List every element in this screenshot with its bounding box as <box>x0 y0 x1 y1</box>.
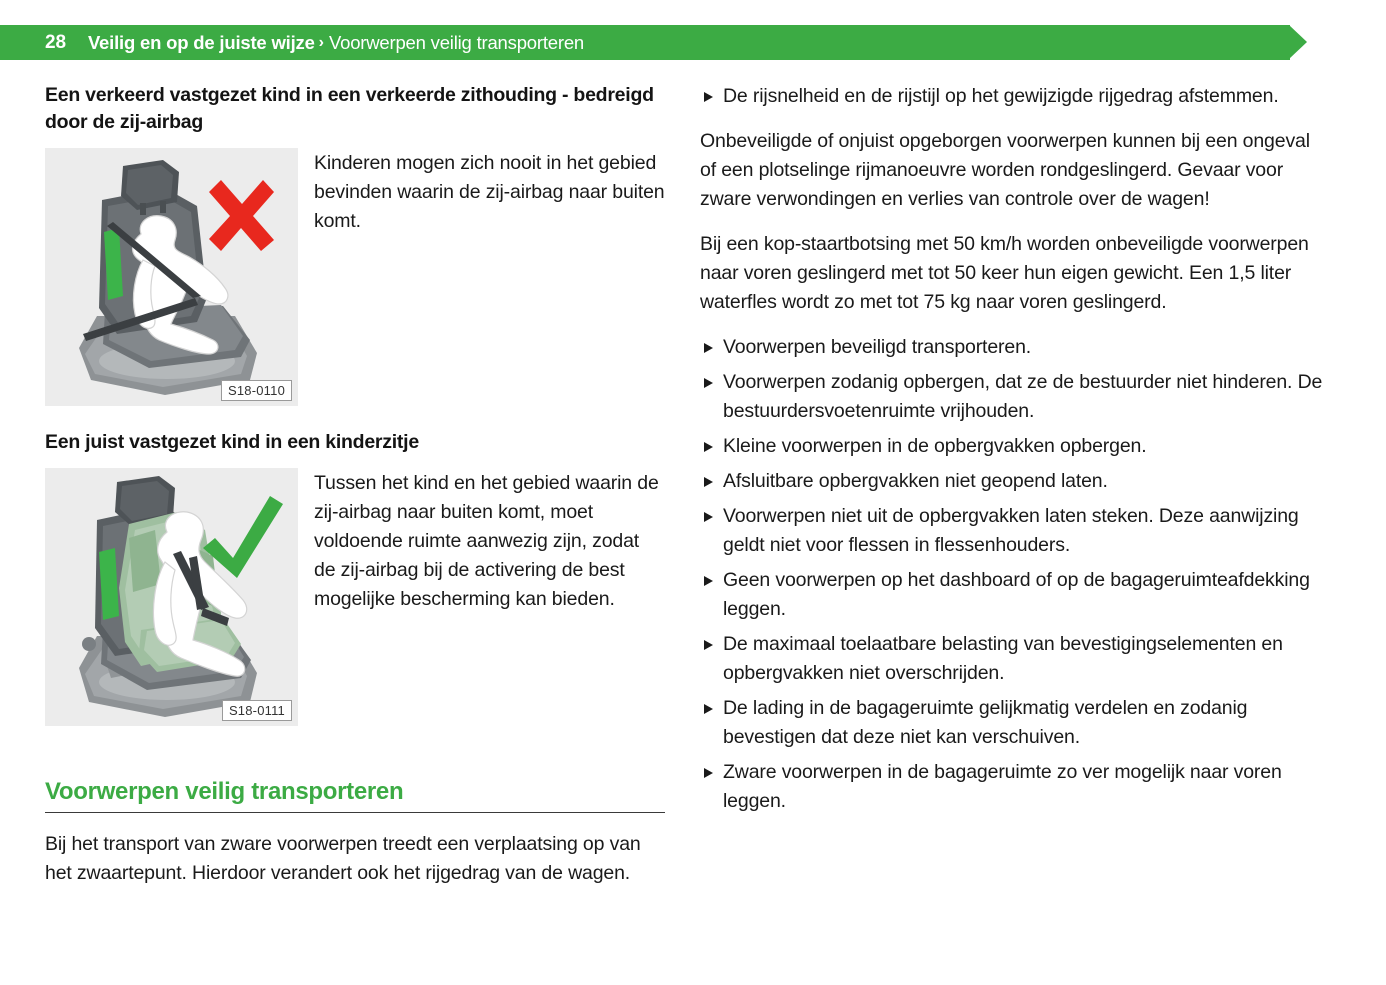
figure-wrong-seating: S18-0110 <box>45 148 298 406</box>
page-running-header: 28 Veilig en op de juiste wijze › Voorwe… <box>0 25 1330 60</box>
figure-caption-text-1: Kinderen mogen zich nooit in het gebied … <box>314 149 665 236</box>
green-section: Voorwerpen veilig transporteren Bij het … <box>45 778 665 888</box>
list-item: Geen voorwerpen op het dashboard of op d… <box>700 566 1325 624</box>
car-seat-correct-illustration <box>45 468 298 726</box>
list-item: De lading in de bagageruimte gelijkmatig… <box>700 694 1325 752</box>
bullet-list-top: De rijsnelheid en de rijstijl op het gew… <box>700 82 1325 111</box>
bullet-list-main: Voorwerpen beveiligd transporteren. Voor… <box>700 333 1325 816</box>
list-item: Zware voorwerpen in de bagageruimte zo v… <box>700 758 1325 816</box>
car-seat-wrong-illustration <box>45 148 298 406</box>
figure-id-label-2: S18-0111 <box>222 700 292 721</box>
figure-block-correct-childseat: S18-0111 Tussen het kind en het gebied w… <box>45 468 665 726</box>
list-item: De rijsnelheid en de rijstijl op het gew… <box>700 82 1325 111</box>
figure-text-wrong-seating: Kinderen mogen zich nooit in het gebied … <box>314 148 665 236</box>
section-heading-transport: Voorwerpen veilig transporteren <box>45 778 665 806</box>
warning-paragraph-1: Onbeveiligde of onjuist opgeborgen voorw… <box>700 127 1325 214</box>
breadcrumb-separator-icon: › <box>319 34 324 52</box>
list-item: Kleine voorwerpen in de opbergvakken opb… <box>700 432 1325 461</box>
list-item: De maximaal toelaatbare belasting van be… <box>700 630 1325 688</box>
figure-caption-text-2: Tussen het kind en het gebied waarin de … <box>314 469 665 614</box>
list-item: Afsluitbare opbergvakken niet geopend la… <box>700 467 1325 496</box>
figure-correct-childseat: S18-0111 <box>45 468 298 726</box>
right-column: De rijsnelheid en de rijstijl op het gew… <box>700 82 1325 832</box>
list-item: Voorwerpen beveiligd transporteren. <box>700 333 1325 362</box>
page-body: Een verkeerd vastgezet kind in een verke… <box>0 82 1386 972</box>
left-column: Een verkeerd vastgezet kind in een verke… <box>45 82 665 888</box>
section-heading-rule <box>45 812 665 813</box>
list-item: Voorwerpen niet uit de opbergvakken late… <box>700 502 1325 560</box>
list-item: Voorwerpen zodanig opbergen, dat ze de b… <box>700 368 1325 426</box>
figure-text-correct-childseat: Tussen het kind en het gebied waarin de … <box>314 468 665 614</box>
header-green-bar: 28 Veilig en op de juiste wijze › Voorwe… <box>0 25 1290 60</box>
figure-block-wrong-seating: S18-0110 Kinderen mogen zich nooit in he… <box>45 148 665 406</box>
page-number: 28 <box>45 32 66 54</box>
section-intro-paragraph: Bij het transport van zware voorwerpen t… <box>45 830 665 888</box>
breadcrumb-chapter: Veilig en op de juiste wijze <box>88 32 315 54</box>
subheading-wrong-seating: Een verkeerd vastgezet kind in een verke… <box>45 82 665 136</box>
figure-id-label-1: S18-0110 <box>221 380 292 401</box>
warning-paragraph-2: Bij een kop-staartbotsing met 50 km/h wo… <box>700 230 1325 317</box>
subheading-correct-childseat: Een juist vastgezet kind in een kinderzi… <box>45 429 665 456</box>
breadcrumb-section: Voorwerpen veilig transporteren <box>329 32 584 54</box>
